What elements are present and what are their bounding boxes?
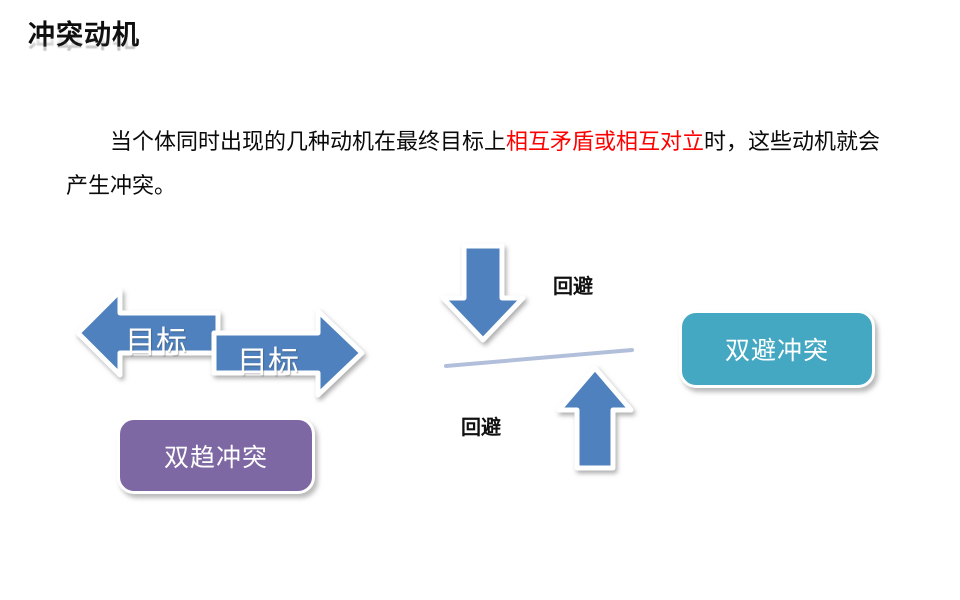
- avoidance-bottom-label: 回避: [461, 411, 501, 440]
- slide-canvas: 冲突动机 冲突动机 当个体同时出现的几种动机在最终目标上相互矛盾或相互对立时，这…: [0, 0, 960, 600]
- body-paragraph: 当个体同时出现的几种动机在最终目标上相互矛盾或相互对立时，这些动机就会产生冲突。: [66, 120, 896, 208]
- body-text-highlight: 相互矛盾或相互对立: [506, 129, 704, 154]
- approach-approach-caption: 双趋冲突: [117, 417, 315, 494]
- avoidance-avoidance-caption-text: 双避冲突: [725, 331, 829, 367]
- arrow-left-label: 目标: [125, 317, 187, 362]
- page-title-reflection: 冲突动机: [28, 19, 448, 53]
- arrow-right-label: 目标: [237, 337, 299, 382]
- avoidance-avoidance-caption: 双避冲突: [679, 310, 875, 388]
- body-text-part1: 当个体同时出现的几种动机在最终目标上: [110, 129, 506, 154]
- arrow-down-icon: [437, 240, 529, 346]
- arrow-up-icon: [553, 362, 637, 474]
- approach-approach-caption-text: 双趋冲突: [164, 438, 268, 474]
- page-title: 冲突动机 冲突动机: [28, 18, 448, 88]
- avoidance-top-label: 回避: [553, 270, 593, 299]
